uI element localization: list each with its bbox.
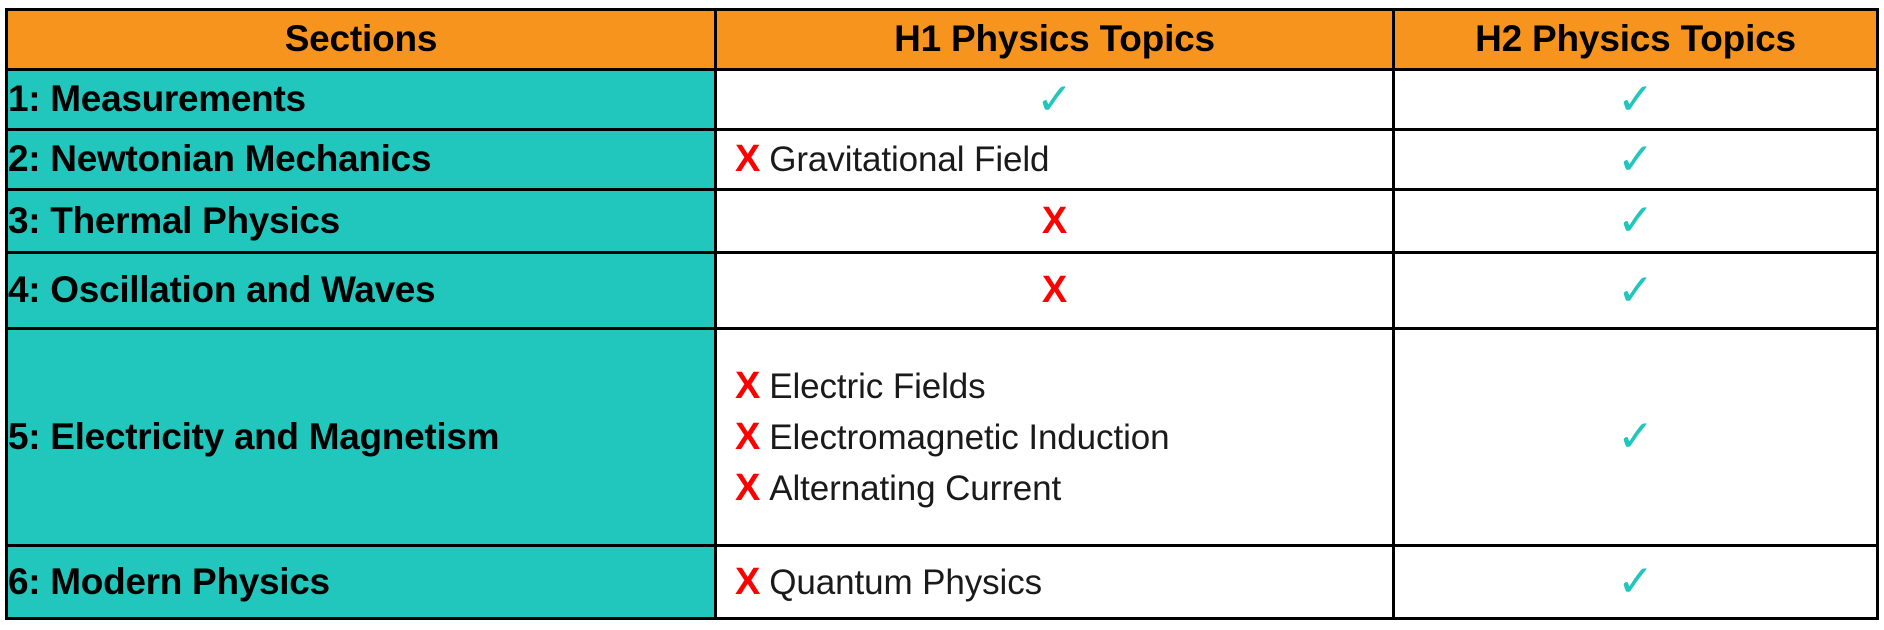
cross-icon: X <box>735 464 760 513</box>
topic-line: XAlternating Current <box>735 464 1392 513</box>
table-row: 1: Measurements ✓ ✓ <box>7 70 1878 130</box>
h1-cell: X <box>716 253 1394 329</box>
topic-line: XElectromagnetic Induction <box>735 413 1392 462</box>
topic-line: XGravitational Field <box>735 135 1392 184</box>
h2-cell: ✓ <box>1394 253 1878 329</box>
topic-label: Alternating Current <box>769 467 1061 512</box>
section-label-cell: 5: Electricity and Magnetism <box>7 329 716 546</box>
cross-icon: X <box>1042 200 1067 243</box>
topic-label: Electromagnetic Induction <box>769 416 1169 461</box>
check-icon: ✓ <box>1617 138 1654 182</box>
table-row: 6: Modern Physics XQuantum Physics ✓ <box>7 546 1878 619</box>
table-body: 1: Measurements ✓ ✓ 2: Newtonian Mechani… <box>7 70 1878 619</box>
h1-cell: XQuantum Physics <box>716 546 1394 619</box>
table-row: 2: Newtonian Mechanics XGravitational Fi… <box>7 130 1878 190</box>
h1-cell: ✓ <box>716 70 1394 130</box>
table-row: 3: Thermal Physics X ✓ <box>7 190 1878 253</box>
h2-cell: ✓ <box>1394 329 1878 546</box>
section-label-cell: 2: Newtonian Mechanics <box>7 130 716 190</box>
syllabus-table-container: Sections H1 Physics Topics H2 Physics To… <box>5 8 1876 620</box>
cross-icon: X <box>735 558 760 607</box>
h1-cell: XElectric Fields XElectromagnetic Induct… <box>716 329 1394 546</box>
cross-icon: X <box>735 413 760 462</box>
table-header-row: Sections H1 Physics Topics H2 Physics To… <box>7 10 1878 70</box>
h1-cell: X <box>716 190 1394 253</box>
check-icon: ✓ <box>1617 560 1654 604</box>
topic-line: XElectric Fields <box>735 362 1392 411</box>
section-label-cell: 6: Modern Physics <box>7 546 716 619</box>
table-header: Sections H1 Physics Topics H2 Physics To… <box>7 10 1878 70</box>
h2-cell: ✓ <box>1394 190 1878 253</box>
column-header-sections: Sections <box>7 10 716 70</box>
check-icon: ✓ <box>1617 199 1654 243</box>
topic-line: XQuantum Physics <box>735 558 1392 607</box>
section-label-cell: 3: Thermal Physics <box>7 190 716 253</box>
topic-label: Electric Fields <box>769 365 985 410</box>
check-icon: ✓ <box>1617 415 1654 459</box>
column-header-h2-physics-topics: H2 Physics Topics <box>1394 10 1878 70</box>
check-icon: ✓ <box>1617 269 1654 313</box>
column-header-h1-physics-topics: H1 Physics Topics <box>716 10 1394 70</box>
table-row: 4: Oscillation and Waves X ✓ <box>7 253 1878 329</box>
table-row: 5: Electricity and Magnetism XElectric F… <box>7 329 1878 546</box>
topic-label: Gravitational Field <box>769 138 1049 183</box>
h2-cell: ✓ <box>1394 130 1878 190</box>
h2-cell: ✓ <box>1394 70 1878 130</box>
h2-cell: ✓ <box>1394 546 1878 619</box>
h1-cell: XGravitational Field <box>716 130 1394 190</box>
check-icon: ✓ <box>1036 78 1073 122</box>
cross-icon: X <box>1042 269 1067 312</box>
section-label-cell: 4: Oscillation and Waves <box>7 253 716 329</box>
topic-label: Quantum Physics <box>769 561 1042 606</box>
cross-icon: X <box>735 135 760 184</box>
section-label-cell: 1: Measurements <box>7 70 716 130</box>
syllabus-comparison-table: Sections H1 Physics Topics H2 Physics To… <box>5 8 1879 620</box>
cross-icon: X <box>735 362 760 411</box>
check-icon: ✓ <box>1617 78 1654 122</box>
